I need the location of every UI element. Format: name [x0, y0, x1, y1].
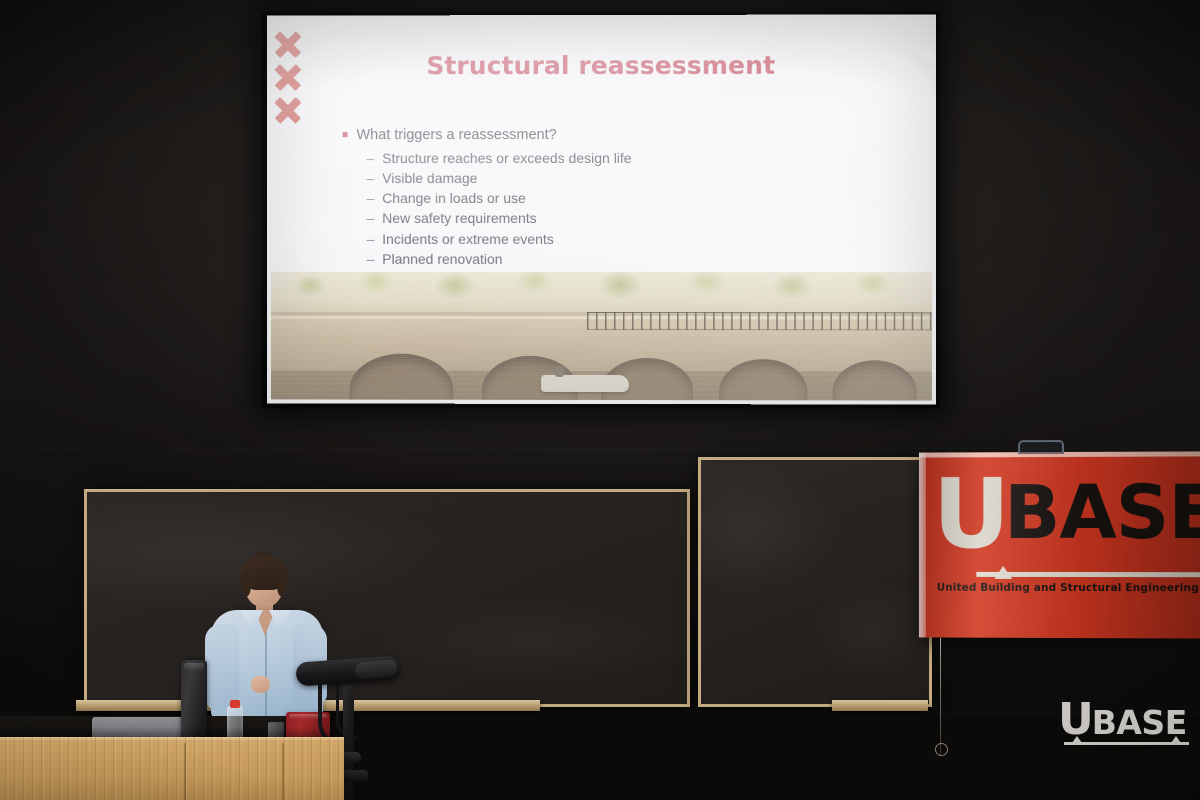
- watermark-logo-rest: BASE: [1092, 707, 1187, 738]
- photo-bridge-railing: [587, 312, 932, 330]
- ubase-watermark: U BASE: [1058, 702, 1187, 738]
- ubase-logo-row: U BASE: [933, 474, 1200, 555]
- slide-bullet-text: What triggers a reassessment?: [357, 127, 557, 143]
- list-item: – Visible damage: [366, 168, 895, 188]
- presentation-slide: Structural reassessment What triggers a …: [267, 14, 936, 404]
- ubase-logo-triangle-icon: [994, 566, 1012, 579]
- banner-hanging-cord: [940, 638, 941, 756]
- presenter-sleeve-left: [205, 624, 239, 710]
- ubase-banner: U BASE United Building and Structural En…: [919, 451, 1200, 638]
- dash-bullet-icon: –: [366, 148, 374, 168]
- dash-bullet-icon: –: [366, 249, 374, 269]
- chalk-tray-right: [832, 700, 928, 711]
- x-mark-icon: [275, 97, 301, 123]
- slide-bullet-level1: What triggers a reassessment?: [343, 127, 896, 143]
- list-item: – New safety requirements: [366, 208, 895, 228]
- wall-seam: [0, 712, 1200, 713]
- presenter-hair-side: [277, 570, 287, 596]
- photo-boat: [541, 375, 629, 392]
- dash-bullet-icon: –: [366, 188, 374, 208]
- list-item: – Change in loads or use: [366, 188, 895, 208]
- ubase-logo-rest: BASE: [1004, 474, 1200, 553]
- presenter-hand: [251, 676, 270, 693]
- watermark-logo-u: U: [1058, 702, 1092, 737]
- list-item: – Planned renovation: [366, 249, 895, 270]
- presenter-hair-side: [241, 570, 251, 596]
- ubase-logo-u: U: [933, 474, 1006, 554]
- list-item-label: Incidents or extreme events: [382, 229, 554, 249]
- slide-sub-bullets: – Structure reaches or exceeds design li…: [343, 147, 896, 269]
- microphone-stand-pole: [343, 686, 354, 800]
- dash-bullet-icon: –: [366, 229, 374, 249]
- watermark-logo-row: U BASE: [1058, 702, 1187, 738]
- wooden-podium: [0, 737, 344, 800]
- podium-panel-seam: [282, 743, 284, 800]
- list-item-label: Planned renovation: [382, 249, 502, 269]
- ubase-logo: U BASE: [933, 474, 1200, 555]
- slide-bridge-photo: [271, 272, 932, 401]
- podium-top-edge: [0, 737, 344, 742]
- water-bottle-cap: [230, 700, 240, 708]
- slide-title: Structural reassessment: [267, 51, 936, 81]
- dash-bullet-icon: –: [366, 168, 374, 188]
- list-item-label: Visible damage: [382, 168, 477, 188]
- list-item-label: Change in loads or use: [382, 188, 526, 208]
- blackboard-right: [698, 457, 932, 707]
- dash-bullet-icon: –: [366, 208, 374, 228]
- slide-body: What triggers a reassessment? – Structur…: [343, 127, 896, 270]
- watermark-triangle-right-icon: [1171, 736, 1181, 743]
- thermos-flask: [181, 660, 207, 742]
- watermark-triangle-left-icon: [1072, 736, 1082, 743]
- banner-hook-icon: [1018, 440, 1064, 454]
- square-bullet-icon: [343, 132, 348, 137]
- ubase-tagline: United Building and Structural Engineeri…: [937, 582, 1200, 595]
- lecture-hall-photo: Structural reassessment What triggers a …: [0, 0, 1200, 800]
- podium-panel-seam: [184, 743, 186, 800]
- banner-left-hem: [919, 453, 926, 638]
- list-item: – Structure reaches or exceeds design li…: [366, 147, 895, 168]
- projection-screen: Structural reassessment What triggers a …: [267, 14, 936, 404]
- list-item-label: New safety requirements: [382, 208, 536, 228]
- list-item-label: Structure reaches or exceeds design life: [382, 147, 631, 167]
- list-item: – Incidents or extreme events: [366, 229, 895, 249]
